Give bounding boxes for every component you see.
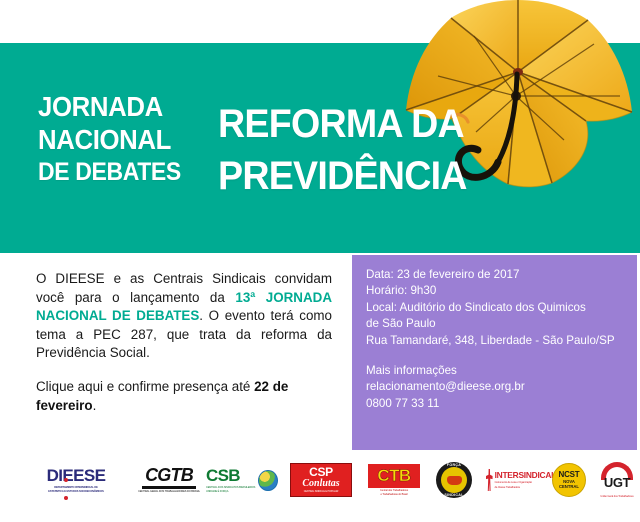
ncst-wordmark: NCST <box>559 471 580 479</box>
ctb-subtitle-1: Central dos Trabalhadores <box>380 489 408 492</box>
logo-forca-sindical[interactable]: FORÇA SINDICAL <box>432 458 476 502</box>
forca-wordmark-bottom: SINDICAL <box>436 493 472 497</box>
ugt-subtitle: União Geral dos Trabalhadores <box>600 495 633 498</box>
event-venue-value: Auditório do Sindicato dos Quimicos <box>400 301 586 314</box>
cta-text-part1: Clique aqui e confirme presença até <box>36 379 254 394</box>
logo-ctb[interactable]: CTB Central dos Trabalhadores e Trabalha… <box>364 458 424 502</box>
logo-csb[interactable]: CSB CENTRAL DOS SINDICATOS BRASILEIROS U… <box>206 458 278 502</box>
forca-inner-disc <box>441 467 467 493</box>
forca-wordmark-top: FORÇA <box>436 463 472 467</box>
csb-wordmark: CSB <box>206 467 240 485</box>
csp-badge: CSP Conlutas CENTRAL SINDICAL E POPULAR <box>290 463 352 496</box>
event-venue-row-2: de São Paulo <box>366 316 628 332</box>
dieese-eyes-icon <box>64 468 77 472</box>
event-date-value: 23 de fevereiro de 2017 <box>397 268 519 281</box>
logo-intersindical[interactable]: INTERSINDICAL Instrumento de Luta e Orga… <box>486 458 556 502</box>
logo-csp-conlutas[interactable]: CSP Conlutas CENTRAL SINDICAL E POPULAR <box>288 458 354 502</box>
dieese-subtitle-1: DEPARTAMENTO INTERSINDICAL DE <box>54 486 98 489</box>
more-info-label: Mais informações <box>366 363 628 379</box>
event-time-label: Horário: <box>366 284 407 297</box>
intersindical-text-group: INTERSINDICAL Instrumento de Luta e Orga… <box>495 471 556 489</box>
ctb-badge: CTB <box>368 464 420 488</box>
csb-subtitle-2: UNIDADE É FORÇA <box>206 490 228 493</box>
poster-root: JORNADA NACIONAL DE DEBATES REFORMA DA P… <box>0 0 640 522</box>
event-details-primary: Data: 23 de fevereiro de 2017 Horário: 9… <box>366 267 628 349</box>
intersindical-subtitle-2: da Classe Trabalhadora <box>495 486 520 489</box>
contact-phone[interactable]: 0800 77 33 11 <box>366 396 628 412</box>
invitation-paragraph: O DIEESE e as Centrais Sindicais convida… <box>36 270 332 363</box>
forca-fist-icon <box>447 476 462 485</box>
reforma-heading: REFORMA DA PREVIDÊNCIA <box>218 98 483 202</box>
ugt-wordmark: UGT <box>598 475 636 490</box>
event-date-label: Data: <box>366 268 394 281</box>
logo-dieese[interactable]: DIEESE DEPARTAMENTO INTERSINDICAL DE EST… <box>24 458 128 502</box>
ctb-wordmark: CTB <box>377 466 410 486</box>
event-venue-row: Local: Auditório do Sindicato dos Quimic… <box>366 300 628 316</box>
csp-wordmark: CSP <box>309 466 333 478</box>
event-time-value: 9h30 <box>410 284 436 297</box>
ncst-emblem: NCST NOVA CENTRAL <box>552 463 586 497</box>
csb-text-group: CSB CENTRAL DOS SINDICATOS BRASILEIROS U… <box>206 467 255 494</box>
logo-cgtb[interactable]: CGTB CENTRAL GERAL DOS TRABALHADORES DO … <box>140 458 198 502</box>
csp-script-conlutas: Conlutas <box>302 478 339 489</box>
ncst-subtitle-2: CENTRAL <box>559 484 579 489</box>
logo-ugt[interactable]: UGT União Geral dos Trabalhadores <box>596 458 638 502</box>
cgtb-rule <box>142 486 196 489</box>
csp-subtitle: CENTRAL SINDICAL E POPULAR <box>304 490 338 493</box>
cta-text-part2: . <box>93 398 97 413</box>
csb-globe-icon <box>258 470 278 491</box>
ctb-subtitle-2: e Trabalhadoras do Brasil <box>380 493 407 496</box>
body-copy: O DIEESE e as Centrais Sindicais convida… <box>36 270 332 415</box>
reforma-heading-line2: PREVIDÊNCIA <box>218 150 467 202</box>
csb-subtitle-1: CENTRAL DOS SINDICATOS BRASILEIROS <box>206 486 255 489</box>
logo-ncst[interactable]: NCST NOVA CENTRAL <box>548 458 590 502</box>
event-date-row: Data: 23 de fevereiro de 2017 <box>366 267 628 283</box>
dieese-wordmark: DIEESE <box>47 467 106 485</box>
reforma-heading-line1: REFORMA DA <box>218 98 467 150</box>
cgtb-subtitle: CENTRAL GERAL DOS TRABALHADORES DO BRASI… <box>138 490 200 493</box>
forca-emblem: FORÇA SINDICAL <box>436 462 472 498</box>
cta-paragraph[interactable]: Clique aqui e confirme presença até 22 d… <box>36 378 332 415</box>
event-contact: Mais informações relacionamento@dieese.o… <box>366 363 628 412</box>
intersindical-subtitle-1: Instrumento de Luta e Organização <box>495 481 532 484</box>
contact-email[interactable]: relacionamento@dieese.org.br <box>366 379 628 395</box>
cgtb-wordmark: CGTB <box>145 466 193 485</box>
event-details-box: Data: 23 de fevereiro de 2017 Horário: 9… <box>352 255 637 450</box>
ugt-emblem: UGT <box>598 462 636 494</box>
intersindical-figure-icon <box>486 469 493 491</box>
event-venue-label: Local: <box>366 301 397 314</box>
jornada-heading-line2: NACIONAL <box>38 123 181 156</box>
partner-logo-bar: DIEESE DEPARTAMENTO INTERSINDICAL DE EST… <box>0 458 640 522</box>
jornada-heading-line3: DE DEBATES <box>38 156 181 189</box>
jornada-heading-line1: JORNADA <box>38 90 181 123</box>
event-address: Rua Tamandaré, 348, Liberdade - São Paul… <box>366 333 628 349</box>
event-time-row: Horário: 9h30 <box>366 283 628 299</box>
intersindical-wordmark: INTERSINDICAL <box>495 471 556 480</box>
dieese-subtitle-2: ESTATISTICA E ESTUDOS SOCIOECONÔMICOS <box>48 490 104 493</box>
jornada-heading: JORNADA NACIONAL DE DEBATES <box>38 90 193 189</box>
